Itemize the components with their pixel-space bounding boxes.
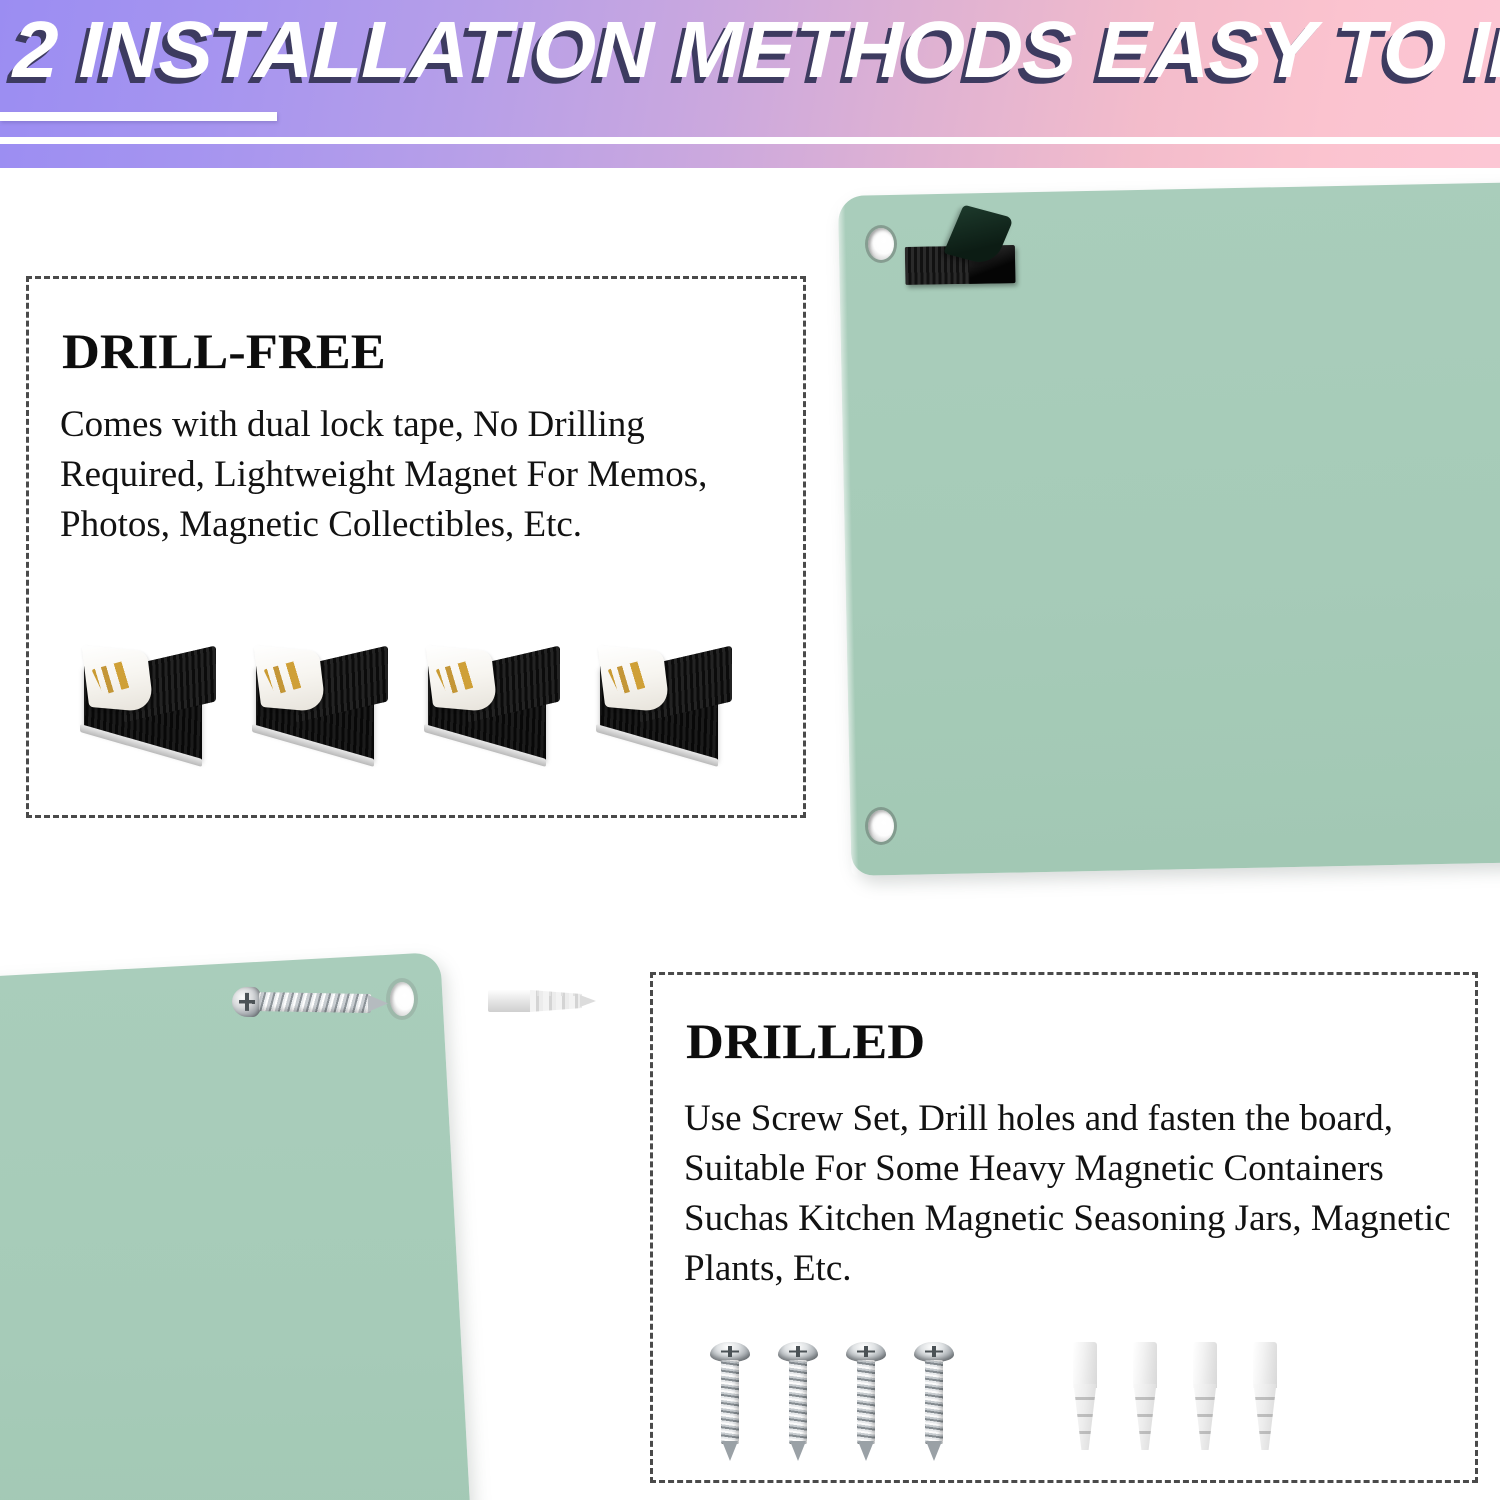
screw-tip bbox=[722, 1441, 738, 1461]
wall-anchor bbox=[1188, 1342, 1222, 1462]
screw-shaft bbox=[721, 1360, 739, 1444]
screw bbox=[914, 1342, 954, 1462]
screw bbox=[846, 1342, 886, 1462]
wall-anchor bbox=[1248, 1342, 1282, 1462]
anchor-ribs bbox=[1250, 1384, 1280, 1450]
anchor-collar bbox=[1133, 1342, 1157, 1388]
dual-lock-tape-strip bbox=[250, 638, 388, 758]
magnetic-board-top bbox=[838, 182, 1500, 876]
screw-tip bbox=[368, 995, 388, 1012]
dual-lock-tape-strip bbox=[594, 638, 732, 758]
wall-anchor bbox=[1068, 1342, 1102, 1462]
wall-anchor bbox=[1128, 1342, 1162, 1462]
wall-anchor-horizontal bbox=[488, 986, 598, 1016]
screw-head bbox=[778, 1342, 818, 1362]
screw-head bbox=[710, 1342, 750, 1362]
anchor-collar bbox=[1193, 1342, 1217, 1388]
screw-head bbox=[914, 1342, 954, 1362]
screw-tip bbox=[926, 1441, 942, 1461]
dual-lock-tape-strip bbox=[78, 638, 216, 758]
dual-lock-tape-strip bbox=[422, 638, 560, 758]
screw-head bbox=[846, 1342, 886, 1362]
mounting-hole-bottom-board bbox=[390, 982, 414, 1016]
anchor-ribs bbox=[1070, 1384, 1100, 1450]
anchor-collar bbox=[1073, 1342, 1097, 1388]
accent-bar-short bbox=[0, 112, 277, 121]
accent-bar-long bbox=[0, 137, 1500, 144]
page-title: 2 INSTALLATION METHODS EASY TO INSTALL bbox=[12, 0, 1500, 104]
screw-horizontal bbox=[232, 985, 393, 1022]
screw bbox=[710, 1342, 750, 1462]
anchor-ribs bbox=[530, 990, 582, 1012]
screw-head bbox=[232, 987, 263, 1018]
tape-backing-liner bbox=[254, 645, 327, 712]
screw-shaft bbox=[857, 1360, 875, 1444]
screw-tip bbox=[790, 1441, 806, 1461]
tape-backing-liner bbox=[426, 645, 499, 712]
anchor-tip bbox=[580, 995, 596, 1007]
tape-backing-liner bbox=[82, 645, 155, 712]
mounting-hole-top-left bbox=[868, 228, 894, 260]
dual-lock-tape-patch bbox=[905, 231, 1016, 285]
anchor-ribs bbox=[1130, 1384, 1160, 1450]
mounting-hole-bottom-left bbox=[868, 810, 894, 842]
drill-free-description: Comes with dual lock tape, No Drilling R… bbox=[60, 400, 760, 550]
magnetic-board-bottom bbox=[0, 952, 472, 1500]
screw-shaft bbox=[789, 1360, 807, 1444]
tape-backing-liner bbox=[598, 645, 671, 712]
screw-tip bbox=[858, 1441, 874, 1461]
screw-shaft bbox=[259, 992, 371, 1013]
anchor-ribs bbox=[1190, 1384, 1220, 1450]
anchor-collar bbox=[488, 990, 532, 1012]
screw-shaft bbox=[925, 1360, 943, 1444]
screw bbox=[778, 1342, 818, 1462]
drill-free-title: DRILL-FREE bbox=[62, 322, 386, 380]
drilled-title: DRILLED bbox=[686, 1012, 925, 1070]
anchor-collar bbox=[1253, 1342, 1277, 1388]
header-banner: 2 INSTALLATION METHODS EASY TO INSTALL bbox=[0, 0, 1500, 168]
drilled-description: Use Screw Set, Drill holes and fasten th… bbox=[684, 1094, 1459, 1294]
